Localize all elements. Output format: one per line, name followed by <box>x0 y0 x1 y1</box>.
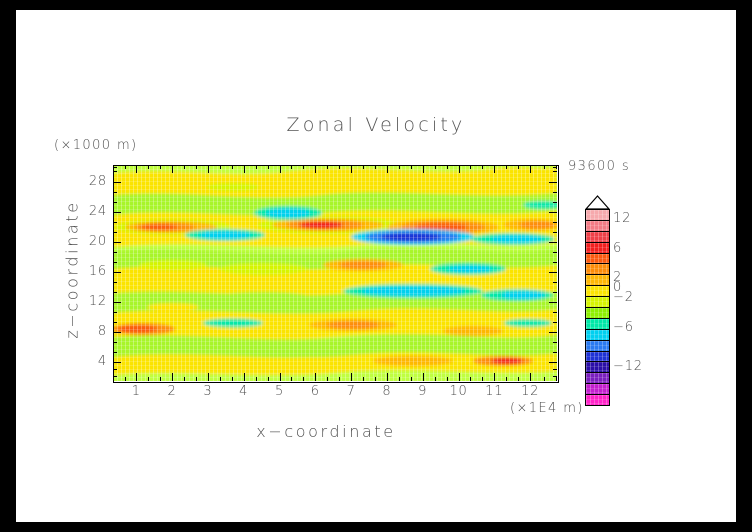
x-major-tick <box>315 373 316 381</box>
colorbar-band <box>586 232 609 243</box>
x-major-tick <box>136 373 137 381</box>
x-minor-tick <box>268 377 269 381</box>
x-tick-label: 9 <box>403 384 443 399</box>
x-minor-tick-top <box>506 165 507 169</box>
x-major-tick-top <box>208 165 209 173</box>
y-minor-tick-right <box>553 232 557 233</box>
x-minor-tick <box>160 377 161 381</box>
x-minor-tick <box>544 377 545 381</box>
x-major-tick <box>244 373 245 381</box>
x-minor-tick-top <box>160 165 161 169</box>
x-minor-tick <box>125 377 126 381</box>
colorbar-band <box>586 319 609 330</box>
x-tick-label: 11 <box>474 384 514 399</box>
colorbar-band <box>586 330 609 341</box>
colorbar-tick-label: 12 <box>613 211 631 226</box>
y-minor-tick-right <box>553 342 557 343</box>
colorbar-band <box>586 243 609 254</box>
x-minor-tick <box>447 377 448 381</box>
x-tick-label: 1 <box>116 384 156 399</box>
x-major-tick-top <box>136 165 137 173</box>
x-major-tick-top <box>387 165 388 173</box>
x-tick-label: 3 <box>188 384 228 399</box>
x-tick-label: 8 <box>367 384 407 399</box>
x-minor-tick <box>232 377 233 381</box>
x-major-tick-top <box>423 165 424 173</box>
colorbar-band <box>586 254 609 265</box>
y-minor-tick-right <box>553 352 557 353</box>
x-tick-label: 5 <box>260 384 300 399</box>
colorbar-band <box>586 373 609 384</box>
y-minor-tick <box>113 352 117 353</box>
x-minor-tick <box>518 377 519 381</box>
x-minor-tick <box>220 377 221 381</box>
timestamp-label: 93600 s <box>568 159 630 174</box>
x-minor-tick <box>482 377 483 381</box>
x-minor-tick-top <box>148 165 149 169</box>
colorbar-band <box>586 264 609 275</box>
y-minor-tick-right <box>553 282 557 283</box>
y-minor-tick-right <box>553 202 557 203</box>
x-major-tick <box>530 373 531 381</box>
y-minor-tick <box>113 252 117 253</box>
y-minor-tick-right <box>553 192 557 193</box>
colorbar-tick-label: 6 <box>613 241 622 256</box>
y-minor-tick-right <box>553 376 557 377</box>
x-minor-tick <box>556 377 557 381</box>
y-axis-title: z−coordinate <box>63 170 82 370</box>
colorbar-band <box>586 308 609 319</box>
y-major-tick <box>113 212 121 213</box>
x-tick-label: 10 <box>439 384 479 399</box>
y-minor-tick-right <box>553 171 557 172</box>
x-major-tick-top <box>494 165 495 173</box>
y-major-tick <box>113 242 121 243</box>
x-minor-tick <box>256 377 257 381</box>
x-axis-title: x−coordinate <box>166 422 486 441</box>
x-major-tick-top <box>530 165 531 173</box>
x-minor-tick <box>303 377 304 381</box>
y-major-tick-right <box>549 302 557 303</box>
x-major-tick <box>494 373 495 381</box>
colorbar-band <box>586 221 609 232</box>
colorbar-tick-label: −6 <box>613 320 634 335</box>
y-minor-tick-right <box>553 292 557 293</box>
y-minor-tick <box>113 282 117 283</box>
colorbar-tick-label: −2 <box>613 290 634 305</box>
x-tick-label: 6 <box>295 384 335 399</box>
x-minor-tick-top <box>125 165 126 169</box>
x-minor-tick <box>399 377 400 381</box>
x-minor-tick <box>375 377 376 381</box>
x-major-tick-top <box>244 165 245 173</box>
x-major-tick-top <box>459 165 460 173</box>
x-tick-label: 4 <box>224 384 264 399</box>
x-major-tick <box>387 373 388 381</box>
x-minor-tick-top <box>291 165 292 169</box>
colorbar-band <box>586 210 609 221</box>
colorbar-band <box>586 362 609 373</box>
x-minor-tick <box>291 377 292 381</box>
page-title: Zonal Velocity <box>16 114 736 136</box>
y-axis-unit-label: (×1000 m) <box>54 138 138 153</box>
y-minor-tick-right <box>553 322 557 323</box>
y-major-tick-right <box>549 332 557 333</box>
y-minor-tick <box>113 312 117 313</box>
y-major-tick <box>113 182 121 183</box>
x-major-tick <box>280 373 281 381</box>
colorbar-band <box>586 384 609 395</box>
y-minor-tick <box>113 202 117 203</box>
x-minor-tick-top <box>375 165 376 169</box>
x-minor-tick-top <box>447 165 448 169</box>
x-major-tick-top <box>351 165 352 173</box>
y-major-tick <box>113 272 121 273</box>
x-minor-tick-top <box>256 165 257 169</box>
image-outer-border: Zonal Velocity (×1000 m) 93600 s <box>0 0 752 532</box>
x-minor-tick <box>363 377 364 381</box>
x-major-tick <box>423 373 424 381</box>
colorbar-band <box>586 341 609 352</box>
y-minor-tick <box>113 192 117 193</box>
colorbar-band <box>586 286 609 297</box>
x-minor-tick <box>196 377 197 381</box>
y-minor-tick-right <box>553 222 557 223</box>
y-minor-tick <box>113 322 117 323</box>
x-minor-tick-top <box>268 165 269 169</box>
x-minor-tick <box>411 377 412 381</box>
y-minor-tick-right <box>553 167 557 168</box>
y-minor-tick-right <box>553 312 557 313</box>
x-major-tick <box>172 373 173 381</box>
y-major-tick-right <box>549 212 557 213</box>
y-minor-tick <box>113 167 117 168</box>
y-major-tick <box>113 302 121 303</box>
x-major-tick-top <box>280 165 281 173</box>
x-minor-tick <box>339 377 340 381</box>
x-tick-label: 2 <box>152 384 192 399</box>
y-major-tick <box>113 332 121 333</box>
colorbar[interactable] <box>585 209 610 406</box>
x-minor-tick-top <box>363 165 364 169</box>
x-minor-tick <box>148 377 149 381</box>
x-major-tick-top <box>315 165 316 173</box>
colorbar-band <box>586 395 609 405</box>
y-minor-tick <box>113 232 117 233</box>
x-minor-tick-top <box>518 165 519 169</box>
x-minor-tick-top <box>220 165 221 169</box>
y-major-tick-right <box>549 182 557 183</box>
y-minor-tick-right <box>553 262 557 263</box>
x-minor-tick-top <box>184 165 185 169</box>
x-minor-tick <box>435 377 436 381</box>
y-minor-tick <box>113 171 117 172</box>
y-minor-tick <box>113 369 117 370</box>
x-minor-tick-top <box>482 165 483 169</box>
y-minor-tick <box>113 292 117 293</box>
colorbar-band <box>586 275 609 286</box>
x-minor-tick-top <box>303 165 304 169</box>
x-minor-tick-top <box>327 165 328 169</box>
y-minor-tick <box>113 342 117 343</box>
y-minor-tick <box>113 222 117 223</box>
y-major-tick-right <box>549 272 557 273</box>
x-major-tick <box>351 373 352 381</box>
colorbar-band <box>586 297 609 308</box>
x-minor-tick-top <box>196 165 197 169</box>
y-minor-tick <box>113 262 117 263</box>
x-minor-tick <box>327 377 328 381</box>
x-minor-tick-top <box>411 165 412 169</box>
x-tick-label: 12 <box>510 384 550 399</box>
x-axis-unit-label: (×1E4 m) <box>510 401 584 416</box>
y-major-tick <box>113 362 121 363</box>
colorbar-top-arrow-icon <box>585 195 610 210</box>
x-major-tick <box>208 373 209 381</box>
x-minor-tick <box>506 377 507 381</box>
x-minor-tick-top <box>544 165 545 169</box>
x-major-tick-top <box>172 165 173 173</box>
x-minor-tick-top <box>339 165 340 169</box>
x-minor-tick-top <box>435 165 436 169</box>
x-minor-tick <box>470 377 471 381</box>
x-tick-label: 7 <box>331 384 371 399</box>
contour-plot-area[interactable] <box>113 165 557 381</box>
colorbar-tick-label: −12 <box>613 359 643 374</box>
plot-canvas: Zonal Velocity (×1000 m) 93600 s <box>16 10 736 522</box>
y-minor-tick <box>113 376 117 377</box>
x-minor-tick-top <box>470 165 471 169</box>
y-major-tick-right <box>549 362 557 363</box>
zonal-velocity-field <box>113 165 557 381</box>
x-minor-tick-top <box>399 165 400 169</box>
x-minor-tick-top <box>232 165 233 169</box>
y-minor-tick-right <box>553 369 557 370</box>
x-minor-tick <box>184 377 185 381</box>
colorbar-band <box>586 352 609 363</box>
x-major-tick <box>459 373 460 381</box>
y-minor-tick-right <box>553 252 557 253</box>
y-major-tick-right <box>549 242 557 243</box>
